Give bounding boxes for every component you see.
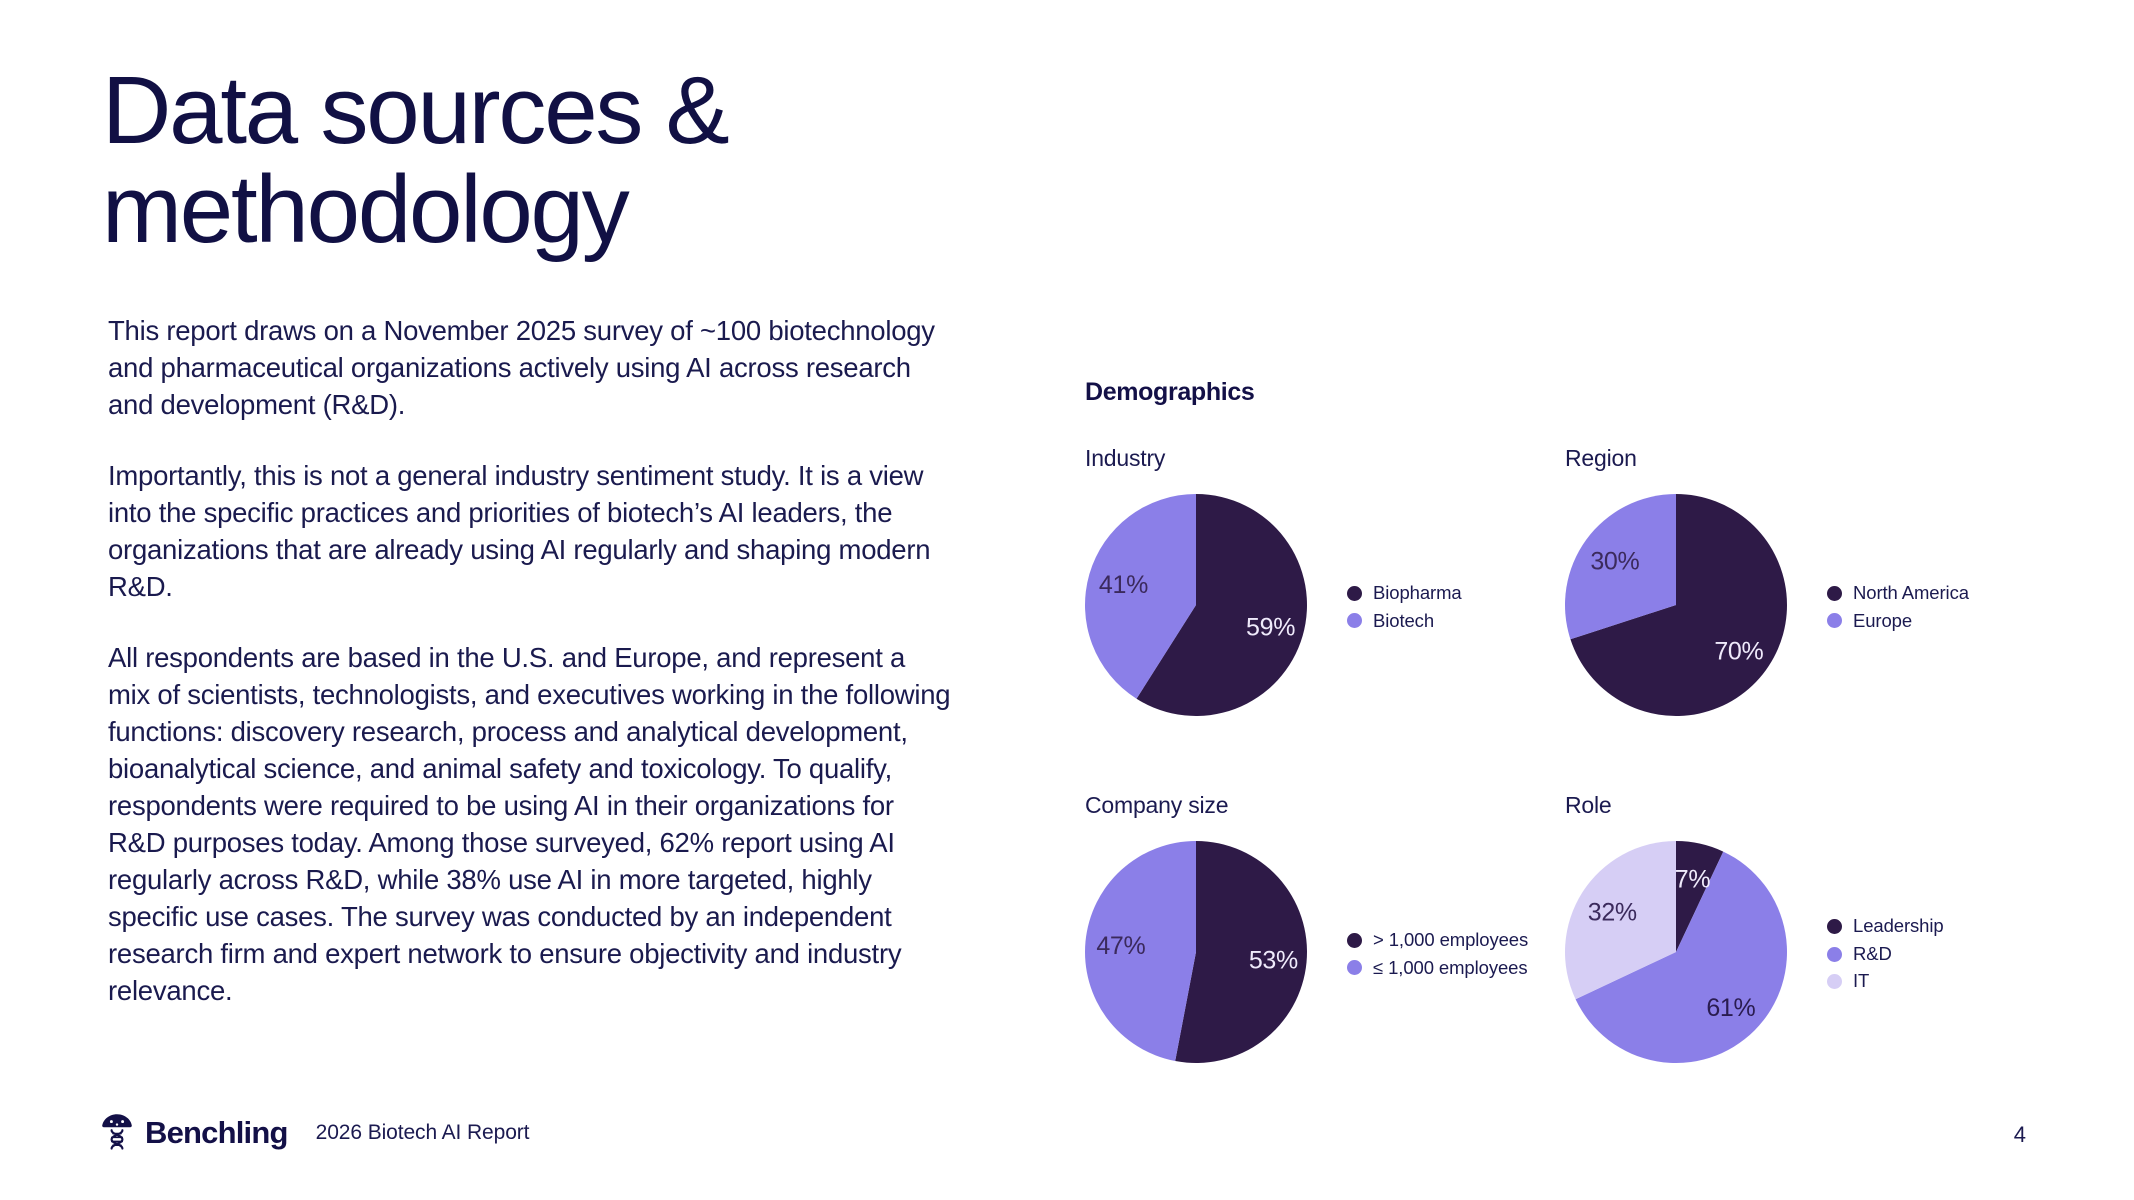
pie-svg: 59%41% xyxy=(1085,494,1307,716)
legend-label: > 1,000 employees xyxy=(1373,931,1528,950)
legend-item: IT xyxy=(1827,972,1944,991)
chart-title: Company size xyxy=(1085,792,1565,819)
chart-cell-region: Region70%30%North AmericaEurope xyxy=(1565,445,2045,716)
legend-item: North America xyxy=(1827,584,1969,603)
slide-canvas: Data sources & methodology This report d… xyxy=(0,0,2134,1200)
pie-slice-value-label: 53% xyxy=(1249,946,1298,974)
footer: Benchling 2026 Biotech AI Report xyxy=(100,1112,529,1152)
chart-grid: Industry59%41%BiopharmaBiotechRegion70%3… xyxy=(1085,445,2065,1063)
legend-swatch-icon xyxy=(1347,960,1362,975)
legend-item: > 1,000 employees xyxy=(1347,931,1528,950)
legend-item: Biopharma xyxy=(1347,584,1462,603)
legend-item: R&D xyxy=(1827,945,1944,964)
pie-slice-value-label: 7% xyxy=(1675,865,1711,893)
page-title: Data sources & methodology xyxy=(102,62,968,260)
pie-slice-value-label: 41% xyxy=(1099,571,1148,599)
legend-item: ≤ 1,000 employees xyxy=(1347,959,1528,978)
pie-svg: 7%61%32% xyxy=(1565,841,1787,1063)
legend-label: Leadership xyxy=(1853,917,1944,936)
legend-label: R&D xyxy=(1853,945,1892,964)
chart-body: 53%47%> 1,000 employees≤ 1,000 employees xyxy=(1085,841,1565,1063)
body-copy: This report draws on a November 2025 sur… xyxy=(108,312,953,1009)
pie-chart: 7%61%32% xyxy=(1565,841,1787,1063)
pie-chart: 59%41% xyxy=(1085,494,1307,716)
legend-item: Leadership xyxy=(1827,917,1944,936)
chart-cell-company-size: Company size53%47%> 1,000 employees≤ 1,0… xyxy=(1085,792,1565,1063)
charts-section-heading: Demographics xyxy=(1085,378,2065,407)
legend-swatch-icon xyxy=(1827,919,1842,934)
pie-slice-value-label: 59% xyxy=(1246,614,1295,642)
legend-swatch-icon xyxy=(1347,586,1362,601)
legend-label: Biotech xyxy=(1373,612,1434,631)
chart-title: Region xyxy=(1565,445,2045,472)
pie-slice-value-label: 30% xyxy=(1590,548,1639,576)
paragraph-2: Importantly, this is not a general indus… xyxy=(108,457,953,605)
pie-slice-value-label: 32% xyxy=(1588,899,1637,927)
paragraph-1: This report draws on a November 2025 sur… xyxy=(108,312,953,423)
brand-name: Benchling xyxy=(145,1117,288,1148)
chart-body: 59%41%BiopharmaBiotech xyxy=(1085,494,1565,716)
pie-chart: 53%47% xyxy=(1085,841,1307,1063)
pie-svg: 70%30% xyxy=(1565,494,1787,716)
pie-chart: 70%30% xyxy=(1565,494,1787,716)
chart-title: Industry xyxy=(1085,445,1565,472)
paragraph-3: All respondents are based in the U.S. an… xyxy=(108,639,953,1009)
legend-label: ≤ 1,000 employees xyxy=(1373,959,1528,978)
chart-legend: North AmericaEurope xyxy=(1827,580,1969,630)
chart-legend: BiopharmaBiotech xyxy=(1347,580,1462,630)
brand-lockup: Benchling xyxy=(100,1112,288,1152)
chart-body: 70%30%North AmericaEurope xyxy=(1565,494,2045,716)
legend-item: Europe xyxy=(1827,612,1969,631)
benchling-mushroom-dna-logo-icon xyxy=(100,1112,134,1152)
pie-slice-value-label: 61% xyxy=(1706,994,1755,1022)
demographics-charts-region: Demographics Industry59%41%BiopharmaBiot… xyxy=(1085,378,2065,1063)
legend-swatch-icon xyxy=(1827,947,1842,962)
chart-body: 7%61%32%LeadershipR&DIT xyxy=(1565,841,2045,1063)
legend-swatch-icon xyxy=(1827,586,1842,601)
pie-slice-value-label: 70% xyxy=(1714,638,1763,666)
legend-label: Biopharma xyxy=(1373,584,1462,603)
chart-legend: LeadershipR&DIT xyxy=(1827,913,1944,991)
legend-swatch-icon xyxy=(1827,974,1842,989)
page-number: 4 xyxy=(2014,1122,2026,1148)
pie-svg: 53%47% xyxy=(1085,841,1307,1063)
chart-title: Role xyxy=(1565,792,2045,819)
pie-slice-value-label: 47% xyxy=(1096,932,1145,960)
legend-swatch-icon xyxy=(1347,613,1362,628)
footer-report-name: 2026 Biotech AI Report xyxy=(316,1122,530,1143)
left-content-column: Data sources & methodology This report d… xyxy=(108,62,968,1009)
chart-cell-industry: Industry59%41%BiopharmaBiotech xyxy=(1085,445,1565,716)
legend-item: Biotech xyxy=(1347,612,1462,631)
legend-label: North America xyxy=(1853,584,1969,603)
legend-swatch-icon xyxy=(1827,613,1842,628)
chart-legend: > 1,000 employees≤ 1,000 employees xyxy=(1347,927,1528,977)
chart-cell-role: Role7%61%32%LeadershipR&DIT xyxy=(1565,792,2045,1063)
legend-label: Europe xyxy=(1853,612,1912,631)
legend-label: IT xyxy=(1853,972,1869,991)
legend-swatch-icon xyxy=(1347,933,1362,948)
